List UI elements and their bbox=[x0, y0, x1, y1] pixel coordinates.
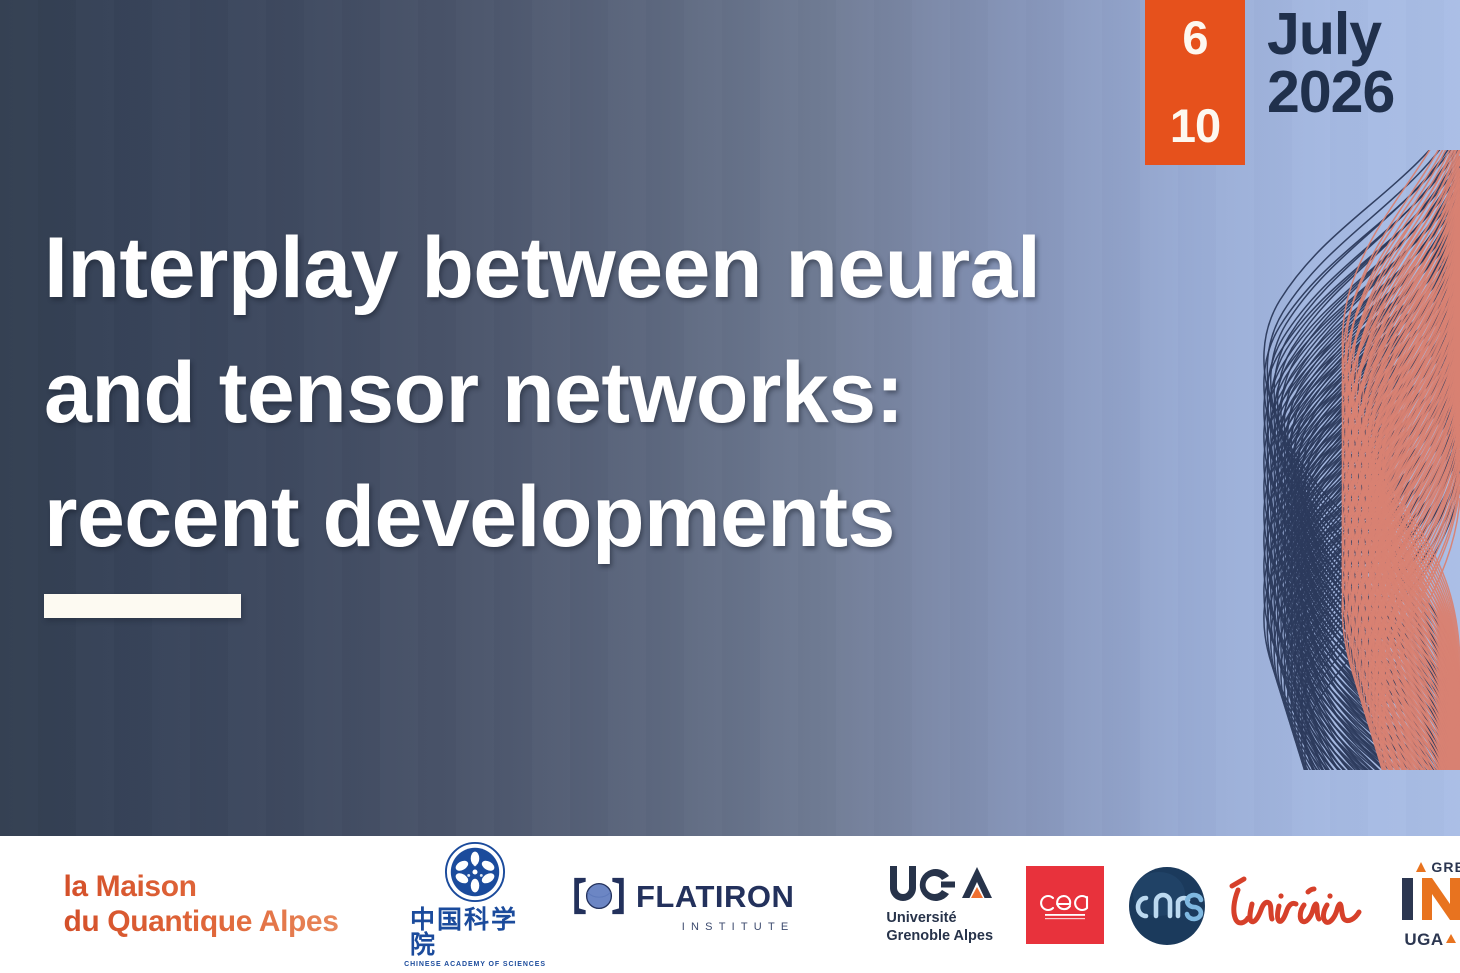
logo-inria bbox=[1222, 874, 1362, 936]
uga-subtitle: Université Grenoble Alpes bbox=[886, 910, 993, 945]
logo-grenoble-inp-uga: GRENOBLE UGA bbox=[1398, 860, 1460, 950]
sponsor-logo-strip: la Maison du Quantique Alpes bbox=[0, 836, 1460, 973]
inp-monogram-icon bbox=[1398, 874, 1460, 924]
flatiron-bracket-icon bbox=[572, 876, 626, 916]
uga-line-2: Grenoble Alpes bbox=[886, 928, 993, 946]
date-day-box: 6 10 bbox=[1145, 0, 1245, 165]
cea-red-box bbox=[1026, 866, 1104, 944]
event-date: 6 10 July 2026 bbox=[1145, 0, 1394, 165]
logo-cea bbox=[1026, 866, 1104, 944]
moire-navy-lines bbox=[1264, 150, 1460, 770]
title-line-3: recent developments bbox=[44, 455, 1234, 580]
cea-wordmark-icon bbox=[1037, 888, 1093, 922]
uga-line-1: Université bbox=[886, 910, 993, 928]
title-line-2: and tensor networks: bbox=[44, 331, 1234, 456]
date-month-label: July bbox=[1267, 6, 1394, 64]
logo-maison-du-quantique-alpes: la Maison du Quantique Alpes bbox=[36, 870, 366, 940]
moire-salmon-lines bbox=[1342, 150, 1460, 770]
page-title: Interplay between neural and tensor netw… bbox=[44, 206, 1234, 580]
maison-line-1: la Maison bbox=[63, 870, 338, 905]
logo-flatiron-institute: FLATIRON INSTITUTE bbox=[572, 876, 794, 933]
flatiron-wordmark: FLATIRON bbox=[636, 881, 794, 912]
inp-uga-triangle-icon bbox=[1446, 934, 1456, 943]
cnrs-emblem-icon bbox=[1126, 864, 1208, 946]
inp-uga-label: UGA bbox=[1404, 930, 1443, 950]
date-day-end: 10 bbox=[1170, 102, 1220, 149]
poster-hero: 6 10 July 2026 Interplay between neural … bbox=[0, 0, 1460, 836]
logo-cnrs bbox=[1126, 864, 1208, 946]
title-line-1: Interplay between neural bbox=[44, 206, 1234, 331]
cas-emblem-icon bbox=[444, 841, 506, 903]
title-underline-rule bbox=[44, 594, 241, 618]
cas-chinese-name: 中国科学院 bbox=[410, 907, 540, 957]
inria-wordmark-icon bbox=[1222, 874, 1362, 936]
maison-line-2: du Quantique Alpes bbox=[63, 905, 338, 940]
logo-chinese-academy-of-sciences: 中国科学院 CHINESE ACADEMY OF SCIENCES bbox=[410, 841, 540, 968]
cas-english-name: CHINESE ACADEMY OF SCIENCES bbox=[404, 961, 546, 968]
date-year-label: 2026 bbox=[1267, 64, 1394, 122]
date-month-year: July 2026 bbox=[1267, 6, 1394, 122]
flatiron-subtitle: INSTITUTE bbox=[572, 921, 794, 933]
maison-wordmark: la Maison du Quantique Alpes bbox=[63, 870, 338, 940]
conference-poster: 6 10 July 2026 Interplay between neural … bbox=[0, 0, 1460, 973]
uga-monogram-icon bbox=[886, 863, 998, 905]
date-day-start: 6 bbox=[1182, 14, 1207, 61]
inp-grenoble-label: GRENOBLE bbox=[1431, 860, 1460, 874]
inp-triangle-icon bbox=[1416, 862, 1426, 872]
logo-universite-grenoble-alpes: Université Grenoble Alpes bbox=[886, 863, 998, 945]
